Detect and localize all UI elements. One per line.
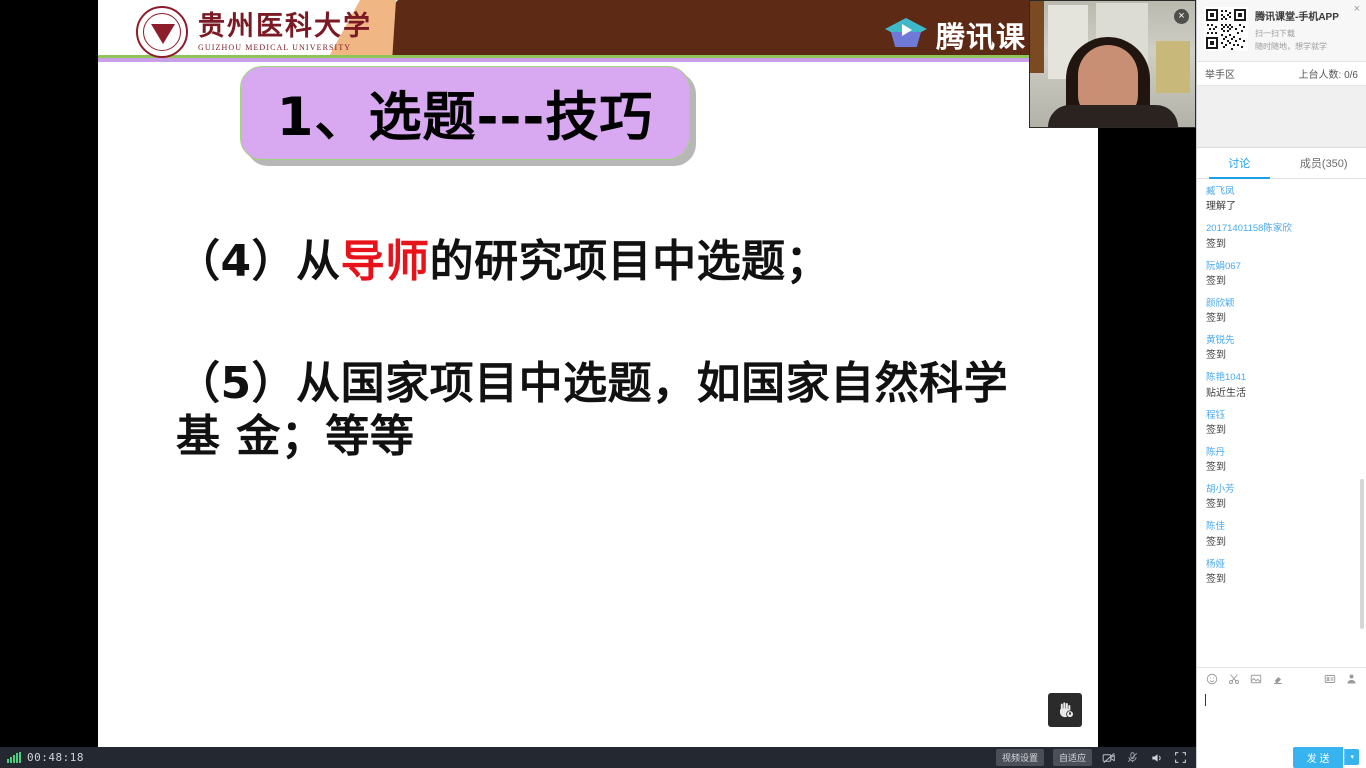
banner-purple-rule: [98, 58, 1098, 62]
message-sender[interactable]: 陈丹: [1206, 446, 1357, 460]
message-text: 理解了: [1206, 199, 1357, 215]
chevron-down-icon[interactable]: ▾: [1344, 749, 1359, 765]
promo-title: 腾讯课堂-手机APP: [1255, 8, 1339, 23]
message-sender[interactable]: 杨娅: [1206, 558, 1357, 572]
list-item: 陈佳签到: [1206, 520, 1357, 550]
message-text: 签到: [1206, 535, 1357, 551]
promo-sub2: 随时随地，想学就学: [1255, 41, 1339, 52]
tab-members[interactable]: 成员(350): [1282, 148, 1366, 178]
message-text: 签到: [1206, 572, 1357, 588]
message-sender[interactable]: 颜欣颖: [1206, 297, 1357, 311]
tencent-classroom-window: 贵州医科大学 GUIZHOU MEDICAL UNIVERSITY 腾讯课 1、…: [0, 0, 1366, 768]
webcam-window-3: [1156, 41, 1190, 93]
brand-text: 腾讯课: [936, 14, 1026, 56]
message-sender[interactable]: 阮娟067: [1206, 260, 1357, 274]
university-name-en: GUIZHOU MEDICAL UNIVERSITY: [198, 43, 372, 52]
hand-raise-label: 举手区: [1205, 66, 1235, 81]
player-control-bar: 00:48:18 视频设置 自适应: [0, 747, 1196, 768]
message-text: 贴近生活: [1206, 386, 1357, 402]
close-icon[interactable]: ×: [1174, 9, 1189, 24]
line-4-highlight: 导师: [341, 236, 430, 287]
message-text: 签到: [1206, 460, 1357, 476]
list-item: 阮娟067签到: [1206, 260, 1357, 290]
slide-line-4: （4）从导师的研究项目中选题；: [176, 235, 1028, 289]
university-name-cn: 贵州医科大学: [198, 13, 372, 40]
message-text: 签到: [1206, 311, 1357, 327]
send-button[interactable]: 发 送: [1293, 747, 1344, 768]
list-item: 杨娅签到: [1206, 558, 1357, 588]
microphone-muted-icon[interactable]: [1125, 750, 1140, 765]
list-item: 陈丹签到: [1206, 446, 1357, 476]
on-stage-count: 上台人数: 0/6: [1299, 66, 1358, 81]
app-promo-panel: 腾讯课堂-手机APP 扫一扫下载 随时随地，想学就学 ×: [1197, 0, 1366, 62]
qr-code-icon: [1204, 7, 1248, 51]
card-icon[interactable]: [1323, 672, 1336, 685]
message-text: 签到: [1206, 423, 1357, 439]
list-item: 臧飞凤理解了: [1206, 185, 1357, 215]
signal-bars-icon: [7, 752, 21, 763]
scissors-icon[interactable]: [1227, 672, 1240, 685]
university-logo: 贵州医科大学 GUIZHOU MEDICAL UNIVERSITY: [136, 6, 372, 58]
image-icon[interactable]: [1249, 672, 1262, 685]
chat-message-list[interactable]: 臧飞凤理解了 20171401158陈家欣签到 阮娟067签到 颜欣颖签到 黄锐…: [1197, 179, 1366, 667]
slide-title: 1、选题---技巧: [277, 75, 654, 151]
message-sender[interactable]: 臧飞凤: [1206, 185, 1357, 199]
app-promo-text: 腾讯课堂-手机APP 扫一扫下载 随时随地，想学就学: [1255, 7, 1339, 61]
chat-toolbar: [1197, 667, 1366, 689]
message-text: 签到: [1206, 497, 1357, 513]
message-sender[interactable]: 黄锐先: [1206, 334, 1357, 348]
message-sender[interactable]: 胡小芳: [1206, 483, 1357, 497]
emoji-icon[interactable]: [1205, 672, 1218, 685]
message-text: 签到: [1206, 237, 1357, 253]
send-row: 发 送 ▾: [1197, 746, 1366, 768]
text-caret: [1205, 694, 1206, 706]
message-text: 签到: [1206, 274, 1357, 290]
chat-scrollbar[interactable]: [1360, 479, 1364, 629]
message-sender[interactable]: 程钰: [1206, 409, 1357, 423]
fullscreen-icon[interactable]: [1173, 750, 1188, 765]
message-text: 签到: [1206, 348, 1357, 364]
elapsed-time: 00:48:18: [27, 751, 84, 764]
sidebar-tabs: 讨论 成员(350): [1197, 148, 1366, 179]
tencent-classroom-watermark: 腾讯课: [885, 14, 1026, 56]
person-icon[interactable]: [1345, 672, 1358, 685]
list-item: 胡小芳签到: [1206, 483, 1357, 513]
video-stage[interactable]: 贵州医科大学 GUIZHOU MEDICAL UNIVERSITY 腾讯课 1、…: [0, 0, 1196, 747]
message-sender[interactable]: 陈艳1041: [1206, 371, 1357, 385]
camera-off-icon[interactable]: [1101, 750, 1116, 765]
hand-raise-mic-icon[interactable]: [1048, 693, 1082, 727]
hand-raise-header: 举手区 上台人数: 0/6: [1197, 62, 1366, 86]
slide-title-chip: 1、选题---技巧: [240, 66, 690, 160]
player-actions: 视频设置 自适应: [996, 749, 1196, 766]
message-sender[interactable]: 20171401158陈家欣: [1206, 222, 1357, 236]
slide-line-5: （5）从国家项目中选题，如国家自然科学基 金；等等: [176, 357, 1028, 464]
presenter-webcam[interactable]: ×: [1029, 0, 1196, 128]
tab-discussion[interactable]: 讨论: [1197, 148, 1282, 178]
list-item: 陈艳1041贴近生活: [1206, 371, 1357, 401]
list-item: 颜欣颖签到: [1206, 297, 1357, 327]
speaker-icon[interactable]: [1149, 750, 1164, 765]
webcam-wall-left: [1030, 1, 1044, 73]
webcam-person-shoulders: [1048, 105, 1178, 127]
graduation-cap-play-icon: [885, 18, 927, 52]
chat-toolbar-right: [1323, 672, 1358, 685]
line-4-prefix: （4）从: [176, 236, 341, 287]
chat-input[interactable]: [1197, 689, 1366, 746]
promo-sub1: 扫一扫下载: [1255, 28, 1339, 39]
hand-raise-zone[interactable]: [1197, 86, 1366, 148]
right-sidebar: 腾讯课堂-手机APP 扫一扫下载 随时随地，想学就学 × 举手区 上台人数: 0…: [1196, 0, 1366, 768]
slide-body: （4）从导师的研究项目中选题； （5）从国家项目中选题，如国家自然科学基 金；等…: [98, 235, 1098, 464]
line-4-suffix: 的研究项目中选题；: [430, 236, 831, 287]
list-item: 黄锐先签到: [1206, 334, 1357, 364]
university-seal-icon: [136, 6, 188, 58]
quality-button[interactable]: 自适应: [1053, 749, 1092, 766]
slide-header-banner: 贵州医科大学 GUIZHOU MEDICAL UNIVERSITY 腾讯课: [98, 0, 1098, 62]
message-sender[interactable]: 陈佳: [1206, 520, 1357, 534]
close-icon[interactable]: ×: [1354, 3, 1360, 15]
list-item: 程钰签到: [1206, 409, 1357, 439]
video-settings-button[interactable]: 视频设置: [996, 749, 1044, 766]
player-status: 00:48:18: [0, 751, 84, 764]
list-item: 20171401158陈家欣签到: [1206, 222, 1357, 252]
eraser-icon[interactable]: [1271, 672, 1284, 685]
presentation-slide: 贵州医科大学 GUIZHOU MEDICAL UNIVERSITY 腾讯课 1、…: [98, 0, 1098, 747]
